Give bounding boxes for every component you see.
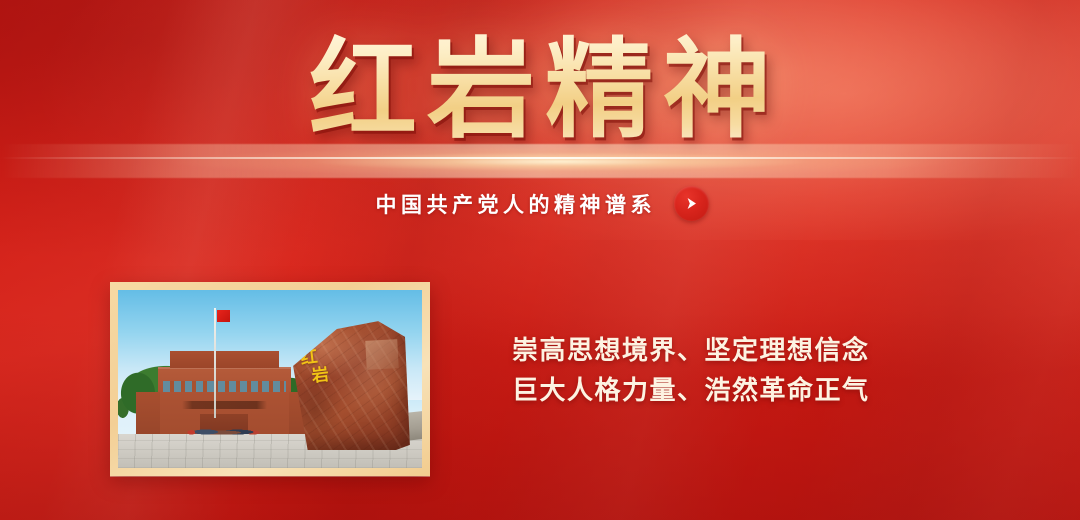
photo-card[interactable]: 红 岩 <box>110 282 430 476</box>
building-name-plaque <box>182 401 268 409</box>
building-left-wing <box>136 392 160 438</box>
slogan-block: 崇高思想境界、坚定理想信念 巨大人格力量、浩然革命正气 <box>512 332 932 411</box>
monument-glyph-2: 岩 <box>311 363 367 386</box>
monument-calligraphy: 红 岩 <box>300 344 370 409</box>
memorial-hall-photo: 红 岩 <box>118 290 422 468</box>
subtitle-text: 中国共产党人的精神谱系 <box>371 189 656 219</box>
next-arrow-button[interactable] <box>674 186 709 221</box>
slogan-line-1: 崇高思想境界、坚定理想信念 <box>512 332 932 372</box>
page-title: 红岩精神 <box>299 34 781 146</box>
building-upper-block <box>170 351 280 368</box>
red-rock-spirit-banner: 红岩精神 中国共产党人的精神谱系 <box>0 0 1080 520</box>
chevron-right-icon <box>683 195 700 212</box>
slogan-line-2: 巨大人格力量、浩然革命正气 <box>512 372 932 412</box>
title-light-line <box>0 157 1080 159</box>
photo-national-flag <box>217 310 230 322</box>
photo-visitors <box>185 427 264 436</box>
monument-light-facet <box>365 339 398 370</box>
photo-flagpole <box>214 308 216 418</box>
subtitle-row: 中国共产党人的精神谱系 <box>0 186 1080 221</box>
building-window-band <box>163 381 286 392</box>
title-block: 红岩精神 <box>0 34 1080 146</box>
title-light-streak <box>0 144 1080 178</box>
